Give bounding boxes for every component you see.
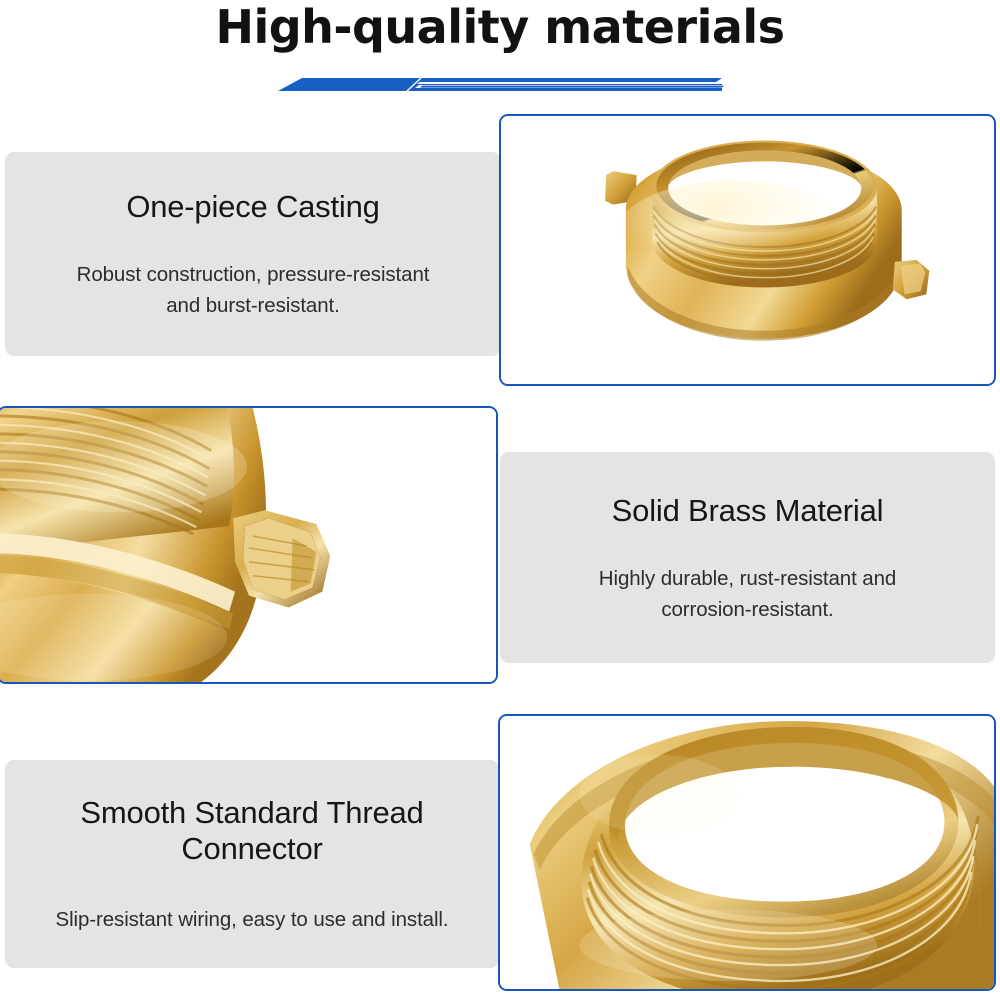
infographic-canvas: High-quality materials One-piece Casting… <box>0 0 1000 994</box>
feature-description-line1: Highly durable, rust-resistant and <box>599 563 896 594</box>
product-photo-frame-one-piece-casting <box>499 114 996 386</box>
feature-description-line2: and burst-resistant. <box>166 290 339 321</box>
brass-male-thread-closeup-image <box>500 716 994 989</box>
feature-headline: Solid Brass Material <box>612 491 884 530</box>
page-title: High-quality materials <box>0 0 1000 56</box>
product-photo-frame-solid-brass <box>0 406 498 684</box>
product-photo-frame-thread-connector <box>498 714 996 991</box>
brass-hydrant-adapter-full-view-image <box>501 116 994 384</box>
feature-headline-line2: Connector <box>181 829 322 868</box>
feature-headline: One-piece Casting <box>126 187 379 226</box>
feature-card-one-piece-casting: One-piece Casting Robust construction, p… <box>5 152 501 356</box>
feature-card-solid-brass-material: Solid Brass Material Highly durable, rus… <box>500 452 995 663</box>
feature-description-line1: Robust construction, pressure-resistant <box>77 259 430 290</box>
feature-headline: Smooth Standard Thread <box>80 793 423 832</box>
angled-blue-divider-icon <box>272 72 728 94</box>
feature-card-smooth-standard-thread: Smooth Standard Thread Connector Slip-re… <box>5 760 499 968</box>
brass-lug-closeup-image <box>0 408 496 682</box>
feature-description-line2: corrosion-resistant. <box>661 594 833 625</box>
feature-description-line1: Slip-resistant wiring, easy to use and i… <box>56 904 449 935</box>
